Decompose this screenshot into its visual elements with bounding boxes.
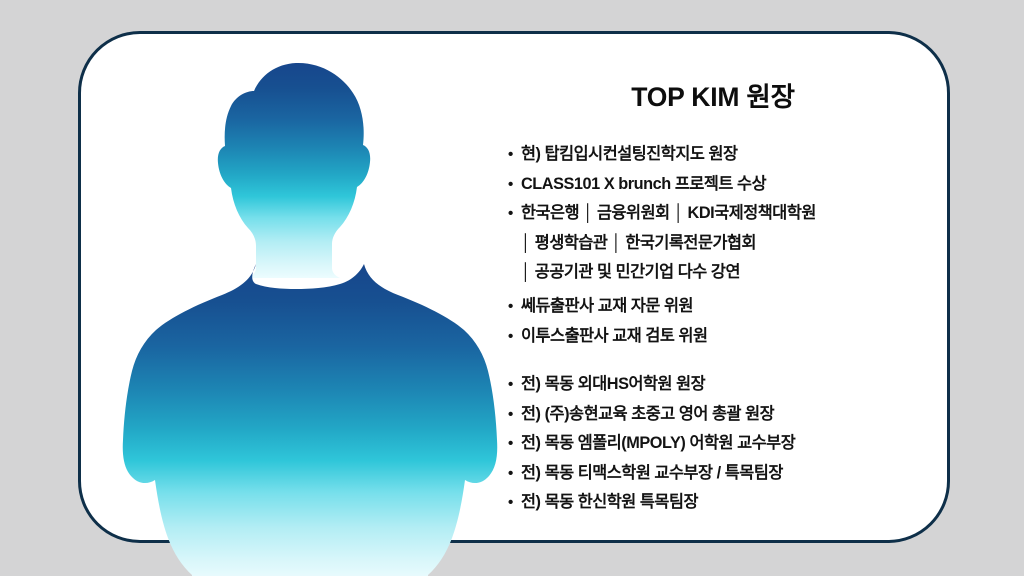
list-item-label: CLASS101 X brunch 프로젝트 수상: [521, 170, 938, 200]
list-item: • 한국은행 │ 금융위원회 │ KDI국제정책대학원: [508, 199, 938, 229]
list-item: • 전) 목동 외대HS어학원 원장: [508, 370, 938, 400]
list-item: • CLASS101 X brunch 프로젝트 수상: [508, 170, 938, 200]
list-item-label: │ 평생학습관 │ 한국기록전문가협회: [521, 229, 938, 259]
credentials-group-publisher: • 쎄듀출판사 교재 자문 위원 • 이투스출판사 교재 검토 위원: [508, 292, 938, 351]
list-item: • 이투스출판사 교재 검토 위원: [508, 322, 938, 352]
bullet-icon: •: [508, 488, 521, 518]
bullet-icon: •: [508, 292, 521, 322]
credentials-group-current: • 현) 탑킴입시컨설팅진학지도 원장 • CLASS101 X brunch …: [508, 140, 938, 288]
credentials-group-former: • 전) 목동 외대HS어학원 원장 • 전) (주)송현교육 초중고 영어 총…: [508, 370, 938, 518]
bullet-icon: •: [508, 459, 521, 489]
list-item-label: 쎄듀출판사 교재 자문 위원: [521, 292, 938, 322]
page-title: TOP KIM 원장: [498, 75, 928, 114]
bullet-icon: •: [508, 429, 521, 459]
list-item-label: 전) 목동 외대HS어학원 원장: [521, 370, 938, 400]
bullet-icon: •: [508, 370, 521, 400]
list-item-continuation: │ 평생학습관 │ 한국기록전문가협회: [508, 229, 938, 259]
bullet-icon: •: [508, 170, 521, 200]
bullet-icon: •: [508, 322, 521, 352]
list-item-label: 현) 탑킴입시컨설팅진학지도 원장: [521, 140, 938, 170]
bullet-icon: •: [508, 199, 521, 229]
bullet-icon: •: [508, 140, 521, 170]
list-item-label: 한국은행 │ 금융위원회 │ KDI국제정책대학원: [521, 199, 938, 229]
list-item-label: │ 공공기관 및 민간기업 다수 강연: [521, 258, 938, 288]
profile-content: TOP KIM 원장 • 현) 탑킴입시컨설팅진학지도 원장 • CLASS10…: [498, 31, 938, 543]
list-item: • 쎄듀출판사 교재 자문 위원: [508, 292, 938, 322]
list-item-label: 전) 목동 티맥스학원 교수부장 / 특목팀장: [521, 459, 938, 489]
list-item-label: 전) (주)송현교육 초중고 영어 총괄 원장: [521, 400, 938, 430]
list-item: • 전) (주)송현교육 초중고 영어 총괄 원장: [508, 400, 938, 430]
list-item: • 전) 목동 티맥스학원 교수부장 / 특목팀장: [508, 459, 938, 489]
list-item: • 현) 탑킴입시컨설팅진학지도 원장: [508, 140, 938, 170]
list-item: • 전) 목동 엠폴리(MPOLY) 어학원 교수부장: [508, 429, 938, 459]
profile-slide: TOP KIM 원장 • 현) 탑킴입시컨설팅진학지도 원장 • CLASS10…: [0, 0, 1024, 576]
list-item-label: 전) 목동 엠폴리(MPOLY) 어학원 교수부장: [521, 429, 938, 459]
list-item-label: 전) 목동 한신학원 특목팀장: [521, 488, 938, 518]
list-item-continuation: │ 공공기관 및 민간기업 다수 강연: [508, 258, 938, 288]
list-item-label: 이투스출판사 교재 검토 위원: [521, 322, 938, 352]
bullet-icon: •: [508, 400, 521, 430]
list-item: • 전) 목동 한신학원 특목팀장: [508, 488, 938, 518]
